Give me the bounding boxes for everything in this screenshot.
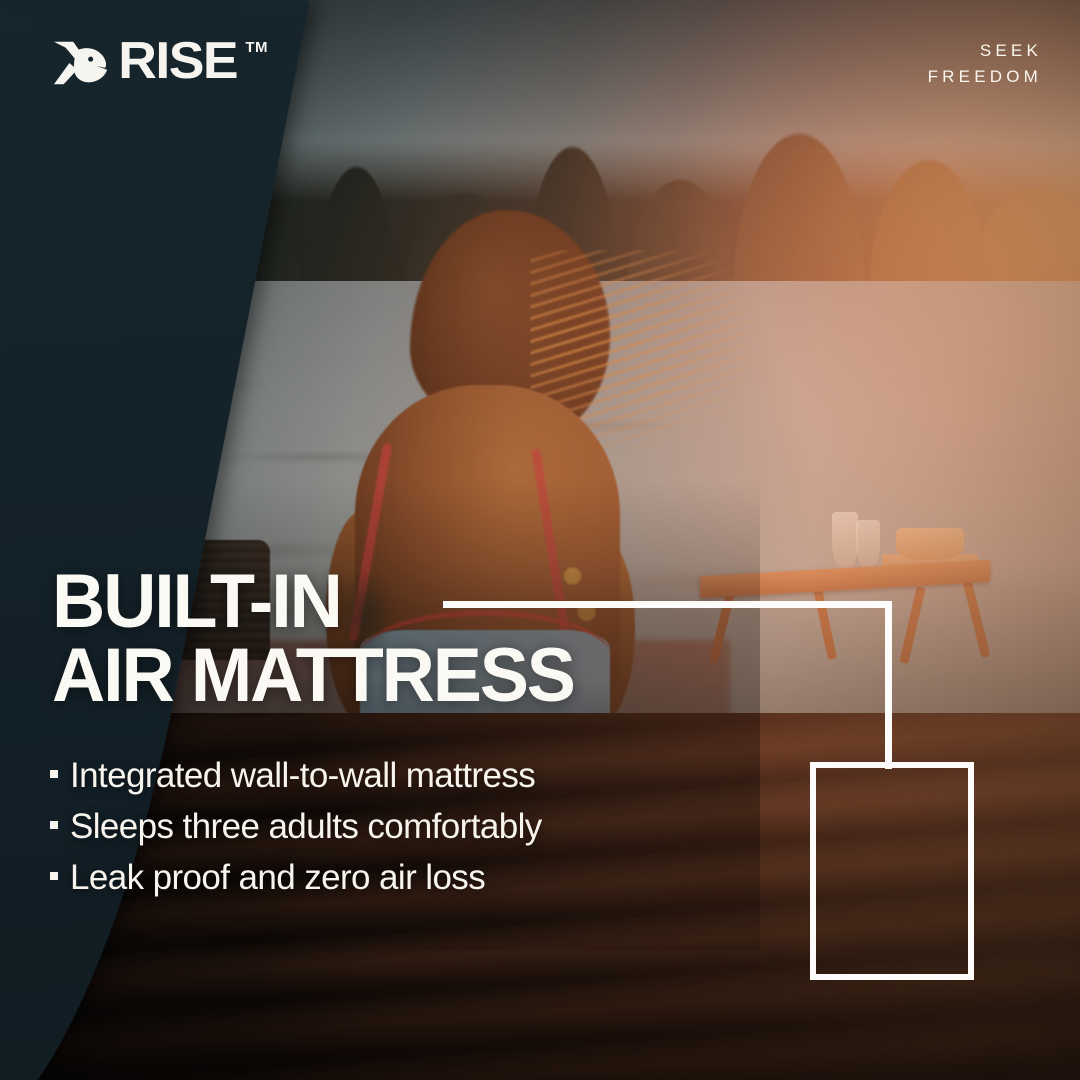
wine-glass [832, 512, 858, 570]
page-title: BUILT-IN AIR MATTRESS [52, 565, 574, 713]
eagle-head-icon [52, 36, 110, 92]
bowl [896, 528, 964, 560]
bullet-square-icon [50, 821, 58, 829]
brand-name: RISE [118, 36, 237, 86]
feature-list: Integrated wall-to-wall mattress Sleeps … [50, 750, 542, 903]
list-item: Leak proof and zero air loss [50, 852, 542, 903]
table-leg [812, 582, 837, 660]
product-feature-ad: RISE TM SEEK FREEDOM BUILT-IN AIR MATTRE… [0, 0, 1080, 1080]
table-leg [963, 580, 991, 658]
headline-line-1: BUILT-IN [52, 565, 574, 639]
brand-logo[interactable]: RISE TM [52, 36, 268, 92]
list-item: Integrated wall-to-wall mattress [50, 750, 542, 801]
background-photo [0, 0, 1080, 1080]
feature-text: Leak proof and zero air loss [70, 852, 485, 903]
bullet-square-icon [50, 770, 58, 778]
bullet-square-icon [50, 872, 58, 880]
brand-tagline: SEEK FREEDOM [928, 38, 1042, 90]
tagline-line-1: SEEK [928, 38, 1042, 64]
feature-text: Sleeps three adults comfortably [70, 801, 542, 852]
tagline-line-2: FREEDOM [928, 64, 1042, 90]
table-leg [709, 586, 737, 664]
trademark-symbol: TM [245, 40, 268, 55]
feature-text: Integrated wall-to-wall mattress [70, 750, 535, 801]
headline-line-2: AIR MATTRESS [52, 639, 574, 713]
table-leg [899, 586, 925, 664]
camp-table [700, 550, 1000, 660]
list-item: Sleeps three adults comfortably [50, 801, 542, 852]
wine-glass [856, 520, 880, 570]
